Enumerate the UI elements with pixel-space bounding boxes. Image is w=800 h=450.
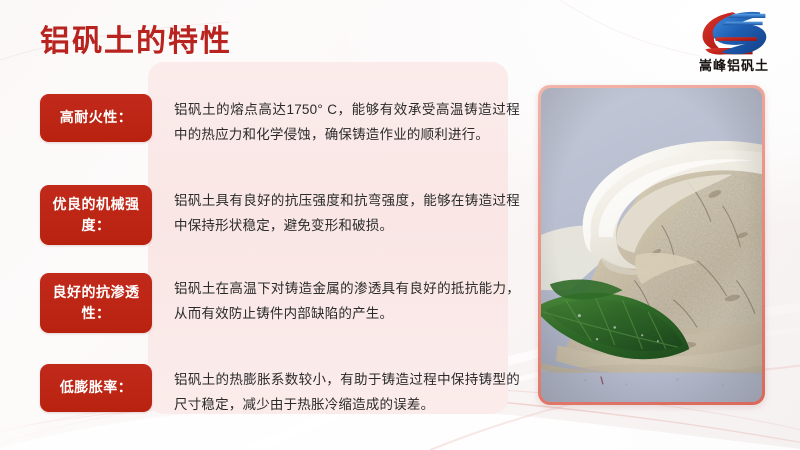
- bauxite-powder-bowl-photo-illustration: [541, 88, 762, 402]
- feature-tag-permeation-resistance: 良好的抗渗透性：: [40, 273, 152, 333]
- product-photo-frame: [538, 85, 765, 405]
- company-logo: 嵩峰铝矾土: [682, 8, 786, 73]
- page-title: 铝矾土的特性: [40, 27, 232, 57]
- feature-row: 优良的机械强度： 铝矾土具有良好的抗压强度和抗弯强度，能够在铸造过程中保持形状稳…: [40, 185, 520, 245]
- feature-text: 铝矾土的熔点高达1750° C，能够有效承受高温铸造过程中的热应力和化学侵蚀，确…: [152, 94, 520, 147]
- feature-text: 铝矾土在高温下对铸造金属的渗透具有良好的抵抗能力，从而有效防止铸件内部缺陷的产生…: [152, 273, 520, 326]
- feature-row: 高耐火性： 铝矾土的熔点高达1750° C，能够有效承受高温铸造过程中的热应力和…: [40, 94, 520, 147]
- product-photo: [541, 88, 762, 402]
- feature-row: 低膨胀率： 铝矾土的热膨胀系数较小，有助于铸造过程中保持铸型的尺寸稳定，减少由于…: [40, 364, 520, 417]
- feature-tag-low-expansion: 低膨胀率：: [40, 364, 152, 412]
- company-name-label: 嵩峰铝矾土: [682, 59, 786, 73]
- feature-text: 铝矾土具有良好的抗压强度和抗弯强度，能够在铸造过程中保持形状稳定，避免变形和破损…: [152, 185, 520, 238]
- slide-canvas: 铝矾土的特性: [0, 0, 800, 450]
- feature-tag-mechanical-strength: 优良的机械强度：: [40, 185, 152, 245]
- feature-row: 良好的抗渗透性： 铝矾土在高温下对铸造金属的渗透具有良好的抵抗能力，从而有效防止…: [40, 273, 520, 333]
- feature-tag-high-refractoriness: 高耐火性：: [40, 94, 152, 142]
- songfeng-s-monogram-logo-icon: [691, 8, 777, 58]
- feature-text: 铝矾土的热膨胀系数较小，有助于铸造过程中保持铸型的尺寸稳定，减少由于热胀冷缩造成…: [152, 364, 520, 417]
